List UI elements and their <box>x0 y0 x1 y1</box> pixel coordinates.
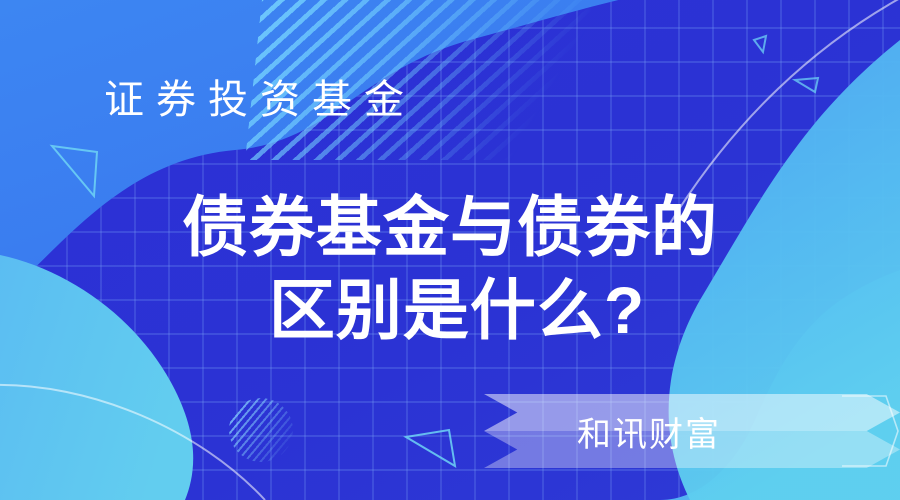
brand-ribbon: 和讯财富 <box>484 394 900 468</box>
banner-title: 债券基金与债券的 区别是什么? <box>0 186 900 352</box>
title-line-1: 债券基金与债券的 <box>0 186 900 269</box>
striped-circle-decoration <box>229 398 293 462</box>
brand-name: 和讯财富 <box>484 394 814 468</box>
banner-subtitle: 证券投资基金 <box>104 76 416 124</box>
ribbon-arrow-outline-icon <box>840 394 900 468</box>
promo-banner: 证券投资基金 债券基金与债券的 区别是什么? 和讯财富 <box>0 0 900 500</box>
title-line-2: 区别是什么? <box>14 269 900 352</box>
